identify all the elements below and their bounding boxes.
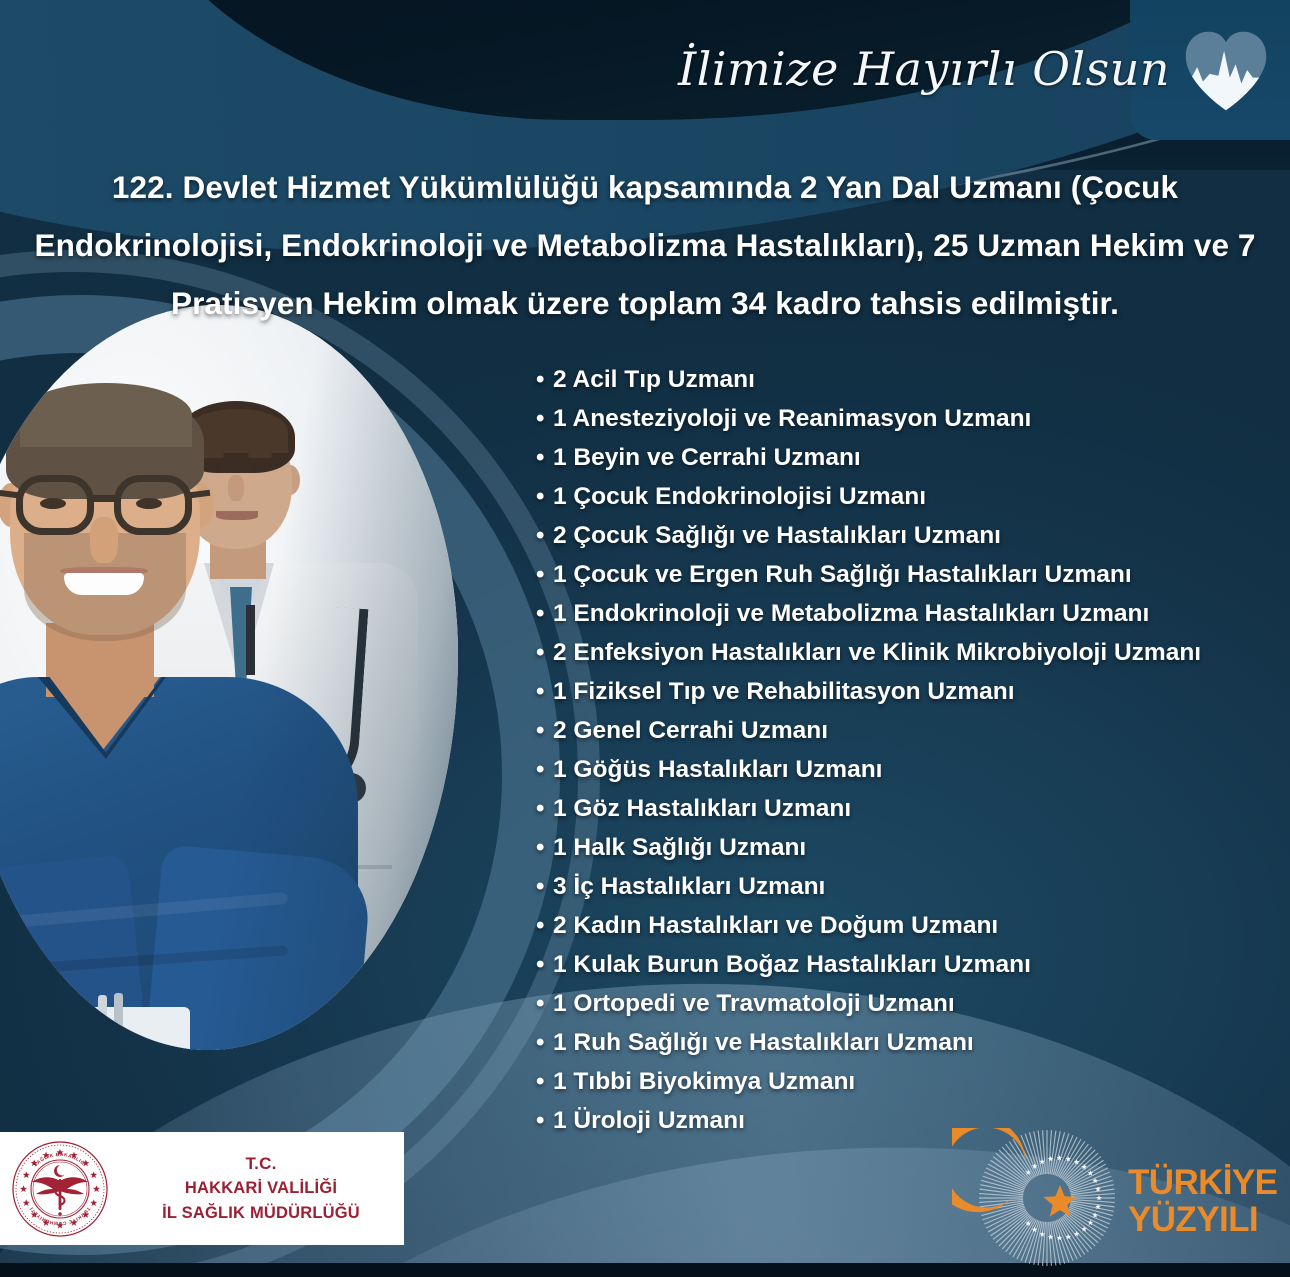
list-item: •2 Çocuk Sağlığı ve Hastalıkları Uzmanı [536, 516, 1256, 555]
bullet-icon: • [536, 672, 553, 711]
page-title: 122. Devlet Hizmet Yükümlülüğü kapsamınd… [30, 158, 1260, 332]
bullet-icon: • [536, 477, 553, 516]
list-item-label: 3 İç Hastalıkları Uzmanı [553, 867, 825, 906]
bullet-icon: • [536, 750, 553, 789]
bullet-icon: • [536, 828, 553, 867]
ministry-of-health-seal-icon: SAĞLIK BAKANLIĞI TÜRKİYE CUMHURİYETİ [10, 1139, 110, 1239]
list-item-label: 1 Göğüs Hastalıkları Uzmanı [553, 750, 883, 789]
doctors-photo [0, 305, 458, 1050]
list-item: •1 Çocuk Endokrinolojisi Uzmanı [536, 477, 1256, 516]
list-item-label: 1 Tıbbi Biyokimya Uzmanı [553, 1062, 855, 1101]
bullet-icon: • [536, 789, 553, 828]
institution-name: T.C. HAKKARİ VALİLİĞİ İL SAĞLIK MÜDÜRLÜĞ… [132, 1151, 404, 1226]
list-item: •1 Anesteziyoloji ve Reanimasyon Uzmanı [536, 399, 1256, 438]
list-item-label: 1 Endokrinoloji ve Metabolizma Hastalıkl… [553, 594, 1149, 633]
list-item-label: 1 Kulak Burun Boğaz Hastalıkları Uzmanı [553, 945, 1031, 984]
list-item-label: 1 Ortopedi ve Travmatoloji Uzmanı [553, 984, 955, 1023]
list-item-label: 1 Üroloji Uzmanı [553, 1101, 745, 1140]
heart-pulse-icon [1178, 22, 1274, 118]
list-item: •2 Acil Tıp Uzmanı [536, 360, 1256, 399]
bullet-icon: • [536, 867, 553, 906]
bullet-icon: • [536, 711, 553, 750]
list-item: •1 Ruh Sağlığı ve Hastalıkları Uzmanı [536, 1023, 1256, 1062]
list-item-label: 1 Fiziksel Tıp ve Rehabilitasyon Uzmanı [553, 672, 1015, 711]
bullet-icon: • [536, 1062, 553, 1101]
poster-root: İlimize Hayırlı Olsun 122. Devlet Hizmet… [0, 0, 1290, 1277]
bullet-icon: • [536, 399, 553, 438]
centennial-line-1: TÜRKİYE [1128, 1163, 1277, 1202]
list-item-label: 1 Çocuk Endokrinolojisi Uzmanı [553, 477, 926, 516]
list-item-label: 1 Çocuk ve Ergen Ruh Sağlığı Hastalıklar… [553, 555, 1132, 594]
bullet-icon: • [536, 945, 553, 984]
bullet-icon: • [536, 984, 553, 1023]
bullet-icon: • [536, 1023, 553, 1062]
bullet-icon: • [536, 360, 553, 399]
list-item-label: 2 Genel Cerrahi Uzmanı [553, 711, 828, 750]
list-item: •2 Genel Cerrahi Uzmanı [536, 711, 1256, 750]
bullet-icon: • [536, 633, 553, 672]
list-item: •1 Kulak Burun Boğaz Hastalıkları Uzmanı [536, 945, 1256, 984]
list-item-label: 2 Enfeksiyon Hastalıkları ve Klinik Mikr… [553, 633, 1201, 672]
list-item-label: 2 Çocuk Sağlığı ve Hastalıkları Uzmanı [553, 516, 1001, 555]
bullet-icon: • [536, 438, 553, 477]
list-item-label: 1 Ruh Sağlığı ve Hastalıkları Uzmanı [553, 1023, 974, 1062]
bullet-icon: • [536, 555, 553, 594]
emblem-line-3: İL SAĞLIK MÜDÜRLÜĞÜ [132, 1201, 390, 1226]
list-item-label: 1 Beyin ve Cerrahi Uzmanı [553, 438, 861, 477]
bullet-icon: • [536, 594, 553, 633]
bullet-icon: • [536, 516, 553, 555]
list-item-label: 1 Halk Sağlığı Uzmanı [553, 828, 806, 867]
list-item-label: 2 Acil Tıp Uzmanı [553, 360, 755, 399]
list-item: •2 Enfeksiyon Hastalıkları ve Klinik Mik… [536, 633, 1256, 672]
bullet-icon: • [536, 1101, 553, 1140]
list-item: •1 Göğüs Hastalıkları Uzmanı [536, 750, 1256, 789]
centennial-line-2: YÜZYILI [1128, 1200, 1258, 1239]
list-item: •1 Tıbbi Biyokimya Uzmanı [536, 1062, 1256, 1101]
list-item: •3 İç Hastalıkları Uzmanı [536, 867, 1256, 906]
list-item: •1 Çocuk ve Ergen Ruh Sağlığı Hastalıkla… [536, 555, 1256, 594]
list-item-label: 1 Göz Hastalıkları Uzmanı [553, 789, 851, 828]
list-item: •2 Kadın Hastalıkları ve Doğum Uzmanı [536, 906, 1256, 945]
turkiye-yuzyili-logo: TÜRKİYE YÜZYILI [952, 1128, 1282, 1268]
kadro-list: •2 Acil Tıp Uzmanı•1 Anesteziyoloji ve R… [536, 360, 1256, 1140]
list-item: •1 Halk Sağlığı Uzmanı [536, 828, 1256, 867]
emblem-line-2: HAKKARİ VALİLİĞİ [132, 1176, 390, 1201]
list-item: •1 Endokrinoloji ve Metabolizma Hastalık… [536, 594, 1256, 633]
list-item: •1 Ortopedi ve Travmatoloji Uzmanı [536, 984, 1256, 1023]
list-item-label: 2 Kadın Hastalıkları ve Doğum Uzmanı [553, 906, 998, 945]
list-item-label: 1 Anesteziyoloji ve Reanimasyon Uzmanı [553, 399, 1031, 438]
list-item: •1 Göz Hastalıkları Uzmanı [536, 789, 1256, 828]
list-item: •1 Beyin ve Cerrahi Uzmanı [536, 438, 1256, 477]
emblem-line-1: T.C. [132, 1151, 390, 1176]
header-script-title: İlimize Hayırlı Olsun [640, 30, 1170, 108]
institution-emblem-card: SAĞLIK BAKANLIĞI TÜRKİYE CUMHURİYETİ T.C… [0, 1132, 404, 1245]
bullet-icon: • [536, 906, 553, 945]
list-item: •1 Fiziksel Tıp ve Rehabilitasyon Uzmanı [536, 672, 1256, 711]
